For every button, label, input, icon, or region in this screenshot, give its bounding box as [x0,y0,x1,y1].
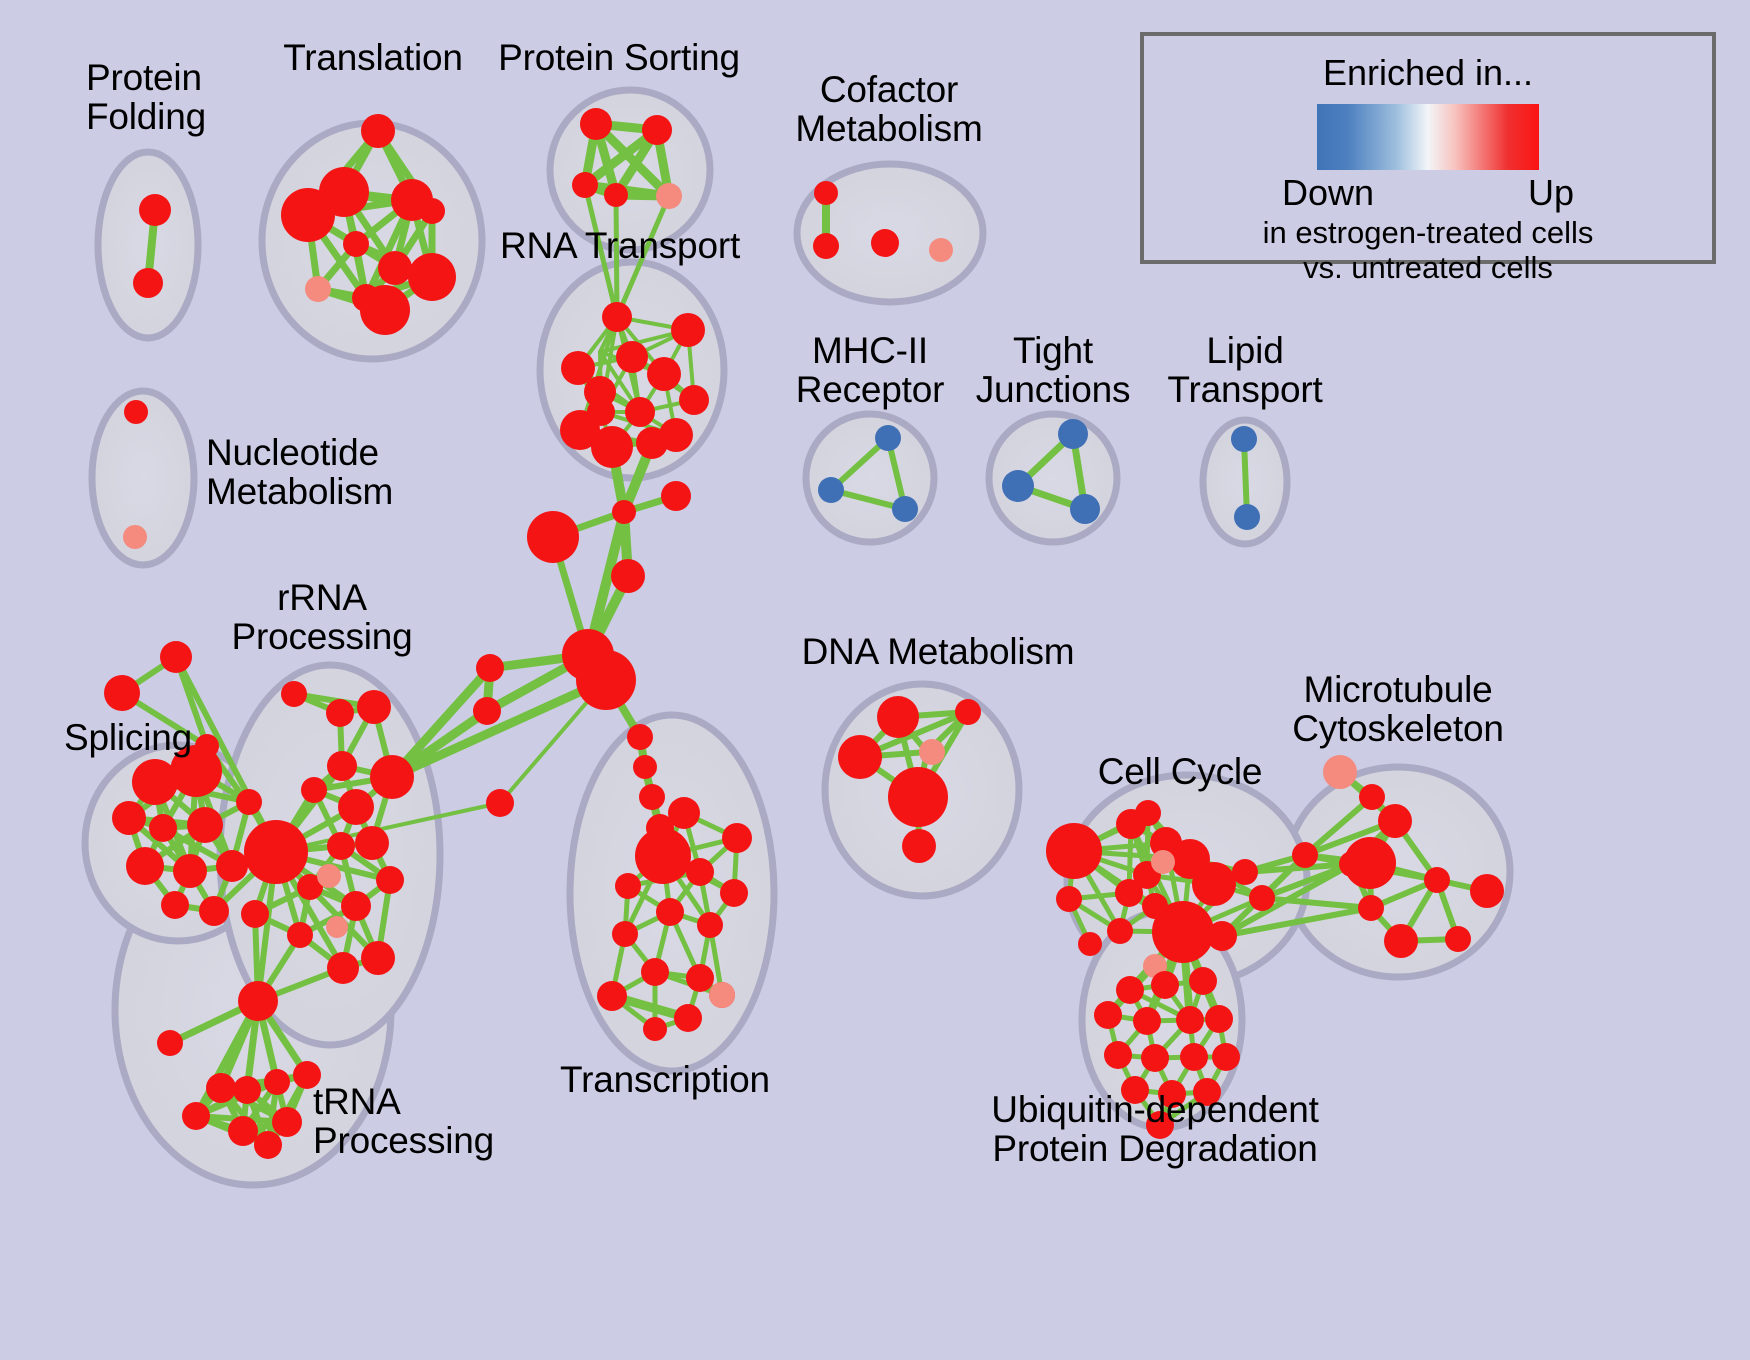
node-up [301,777,327,803]
node-up [1176,1006,1204,1034]
cluster-label-microtubule-cytoskeleton: Microtubule Cytoskeleton [1292,670,1504,748]
cluster-label-tight-junctions: Tight Junctions [976,331,1131,409]
node-up [112,801,146,835]
node-up [182,1102,210,1130]
cluster-label-splicing: Splicing [64,718,192,757]
node-up [233,1076,261,1104]
cluster-label-cofactor-metabolism: Cofactor Metabolism [795,70,982,148]
cluster-label-translation: Translation [283,38,462,77]
node-up [1344,837,1396,889]
node-up [281,188,335,242]
node-up [902,829,936,863]
node-up [659,418,693,452]
node-up [486,789,514,817]
node-up [1189,967,1217,995]
node-up [1142,893,1168,919]
cluster-label-ubiquitin-degradation: Ubiquitin-dependent Protein Degradation [991,1090,1318,1168]
cluster-label-rrna-processing: rRNA Processing [231,578,412,656]
cluster-label-transcription: Transcription [560,1060,770,1099]
node-up-faded [326,916,348,938]
enrichment-network-figure: Protein Folding Translation Protein Sort… [0,0,1750,1360]
node-up [612,500,636,524]
node-up [361,941,395,975]
node-up [627,724,653,750]
node-up [671,313,705,347]
node-up [1292,842,1318,868]
node-up [591,426,633,468]
node-down [1070,494,1100,524]
node-up-faded [929,238,953,262]
cluster-label-protein-sorting: Protein Sorting [498,38,740,77]
node-up [639,784,665,810]
node-up [720,879,748,907]
node-up [722,823,752,853]
node-up [1445,926,1471,952]
cluster-label-mhc-ii-receptor: MHC-II Receptor [796,331,945,409]
node-up [126,847,164,885]
node-up [357,690,391,724]
legend-endpoints: Down Up [1282,172,1574,216]
node-up [355,826,389,860]
node-up [597,981,627,1011]
node-up [1135,800,1161,826]
node-up [668,797,700,829]
node-up [139,194,171,226]
node-up [327,832,355,860]
node-up [1078,932,1102,956]
node-up-faded [1151,850,1175,874]
node-down [892,496,918,522]
node-up [955,699,981,725]
legend-low-label: Down [1282,172,1374,214]
cluster-label-trna-processing: tRNA Processing [313,1082,494,1160]
node-up [615,873,641,899]
node-down [818,477,844,503]
node-up [813,233,839,259]
node-up [527,511,579,563]
node-up [580,108,612,140]
node-up [1205,1005,1233,1033]
node-up [1115,879,1143,907]
node-up [616,341,648,373]
legend-subtitle-line1: in estrogen-treated cells [1144,216,1712,251]
node-up [149,814,177,842]
legend-panel: Enriched in... Down Up in estrogen-treat… [1140,32,1716,264]
node-up [281,681,307,707]
node-up [341,891,371,921]
node-up [1151,971,1179,999]
node-up [1094,1001,1122,1029]
node-up [236,789,262,815]
node-up [643,1017,667,1041]
node-up [576,650,636,710]
node-up [814,181,838,205]
node-down [1234,504,1260,530]
node-up [327,952,359,984]
node-up-faded [919,739,945,765]
node-up [572,172,598,198]
node-up [376,866,404,894]
node-up [238,981,278,1021]
node-up [1192,862,1236,906]
node-up [216,850,248,882]
node-up [877,696,919,738]
cluster-label-lipid-transport: Lipid Transport [1167,331,1322,409]
node-up [206,1073,236,1103]
node-up [272,1107,302,1137]
node-up [838,735,882,779]
node-up [326,699,354,727]
node-up [408,253,456,301]
node-up [161,891,189,919]
node-up [633,755,657,779]
node-up [602,302,632,332]
legend-high-label: Up [1528,172,1574,214]
node-up [361,114,395,148]
node-down [1002,470,1034,502]
node-up [157,1030,183,1056]
node-up [1046,823,1102,879]
node-up [173,854,207,888]
legend-color-gradient-bar [1317,104,1539,170]
node-up [370,755,414,799]
cluster-ellipse-mhc-ii-receptor [806,414,934,542]
node-up [1207,921,1237,951]
node-up [635,828,691,884]
node-up [244,820,308,884]
node-up [656,898,684,926]
node-up [1212,1043,1240,1071]
node-up [254,1131,282,1159]
node-up [1056,886,1082,912]
node-up [604,183,628,207]
cluster-label-rna-transport: RNA Transport [500,226,740,265]
node-up [1378,804,1412,838]
node-up [338,789,374,825]
node-up [124,400,148,424]
node-up [327,751,357,781]
node-up [343,231,369,257]
node-up [1180,1043,1208,1071]
node-up [871,229,899,257]
cluster-label-dna-metabolism: DNA Metabolism [802,632,1075,671]
node-down [1058,419,1088,449]
legend-subtitle-line2: vs. untreated cells [1144,251,1712,286]
node-up-faded [1323,755,1357,789]
node-up [1116,976,1144,1004]
node-up [228,1116,258,1146]
node-up [1249,885,1275,911]
node-up [1107,918,1133,944]
node-down [875,425,901,451]
node-up [1358,895,1384,921]
node-up [1470,874,1504,908]
node-up [104,675,140,711]
node-up [378,251,412,285]
node-up [612,921,638,947]
node-up [187,807,223,843]
cluster-label-cell-cycle: Cell Cycle [1098,752,1263,791]
node-up-faded [656,183,682,209]
cluster-label-protein-folding: Protein Folding [86,58,206,136]
node-up [1384,924,1418,958]
node-up [674,1004,702,1032]
node-up-faded [123,525,147,549]
node-up [642,115,672,145]
node-up [686,858,714,886]
node-up [1104,1041,1132,1069]
node-up [419,198,445,224]
node-up [1133,1007,1161,1035]
node-up [160,641,192,673]
node-up [888,767,948,827]
legend-title: Enriched in... [1144,52,1712,94]
node-up [679,385,709,415]
node-up [625,397,655,427]
node-up [697,912,723,938]
node-up [1359,784,1385,810]
node-up [473,697,501,725]
node-up [476,654,504,682]
node-up [241,900,269,928]
node-up [1424,867,1450,893]
node-up [1141,1044,1169,1072]
node-up [661,481,691,511]
cluster-label-nucleotide-metabolism: Nucleotide Metabolism [206,433,393,511]
node-up [360,285,410,335]
node-up [611,559,645,593]
node-up-faded [305,276,331,302]
node-up [1232,859,1258,885]
node-up [686,964,714,992]
node-up [641,958,669,986]
node-up [264,1069,290,1095]
node-down [1231,426,1257,452]
node-up-faded [709,982,735,1008]
node-up-faded [317,864,341,888]
node-up [199,896,229,926]
node-up [647,357,681,391]
node-up [133,268,163,298]
node-up [287,922,313,948]
